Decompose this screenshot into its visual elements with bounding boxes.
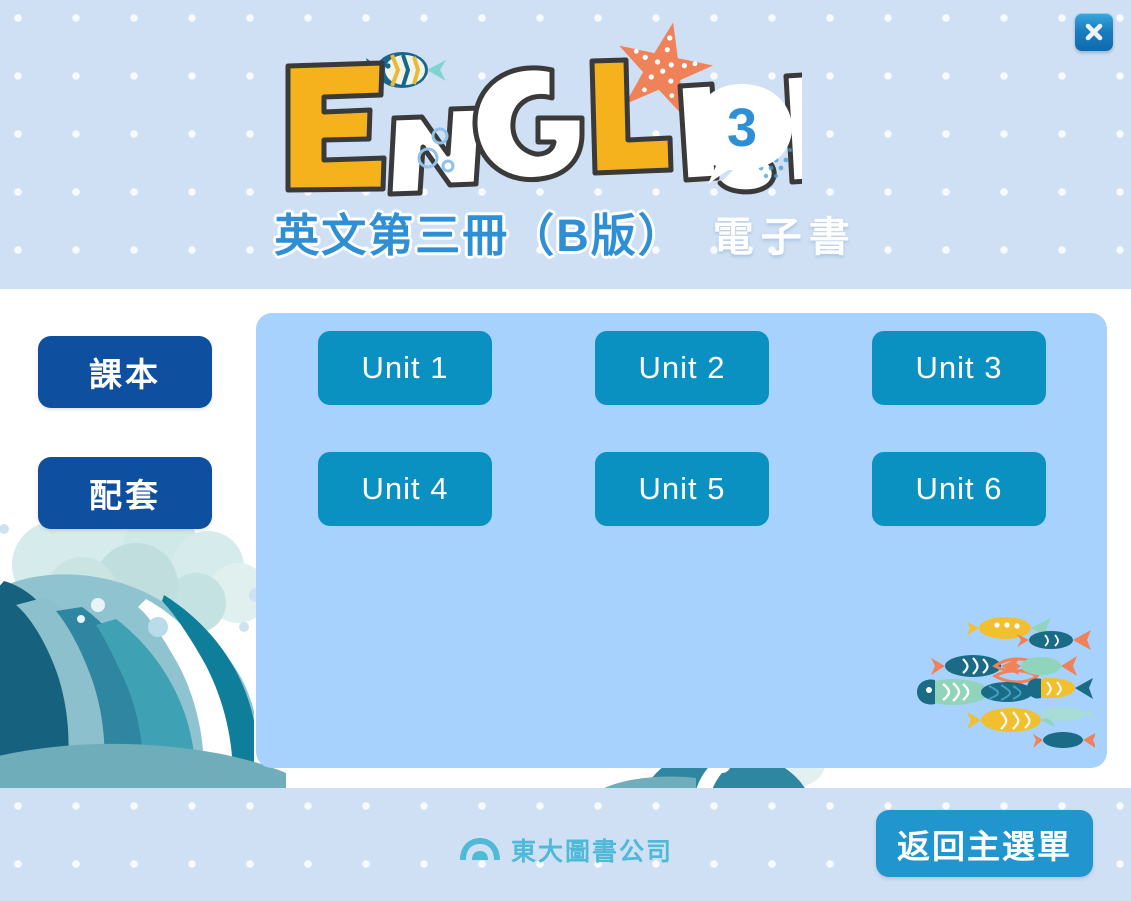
volume-number: 3 [727,98,757,158]
footer-bar: 東大圖書公司 返回主選單 [0,788,1131,901]
fish-yellow-right [1027,678,1093,699]
return-to-main-menu-button[interactable]: 返回主選單 [876,810,1093,877]
logo-letter-e [288,63,384,190]
sidebar-item-supplementary[interactable]: 配套 [38,457,212,529]
subtitle-ebook-label: 電子書 [713,214,857,260]
content-stage: 課本 配套 Unit 1 Unit 2 Unit 3 Unit 4 Unit 5… [0,289,1131,788]
fish-green-faint [1041,707,1095,721]
unit-grid: Unit 1 Unit 2 Unit 3 Unit 4 Unit 5 Unit … [318,331,1046,526]
close-button[interactable] [1075,13,1113,51]
ebook-launcher-window: 3 英文第三冊（B版）電子書 [0,0,1131,901]
fish-school-decoration [905,610,1095,750]
unit-button-2[interactable]: Unit 2 [595,331,769,405]
logo-letter-g [475,68,582,180]
title-logo-group: 3 英文第三冊（B版）電子書 [0,0,1131,289]
fish-orange-outline [995,659,1037,682]
unit-panel: Unit 1 Unit 2 Unit 3 Unit 4 Unit 5 Unit … [256,313,1107,768]
fish-green [1011,656,1077,676]
header-banner: 3 英文第三冊（B版）電子書 [0,0,1131,289]
unit-button-3[interactable]: Unit 3 [872,331,1046,405]
close-icon [1084,22,1104,42]
publisher-name: 東大圖書公司 [511,832,673,868]
fish-navy-striped [931,655,1019,677]
fish-yellow-top [967,617,1051,639]
fish-navy-plain [981,682,1033,702]
unit-button-6[interactable]: Unit 6 [872,452,1046,526]
sidebar-item-textbook[interactable]: 課本 [38,336,212,408]
bridge-icon [458,836,502,864]
fish-navy-bottom [1033,732,1095,749]
volume-badge-bubble: 3 [690,82,800,187]
fish-big [917,679,1009,705]
fish-navy-small-top [1017,630,1091,650]
sidebar: 課本 配套 [38,336,212,578]
unit-button-5[interactable]: Unit 5 [595,452,769,526]
unit-button-4[interactable]: Unit 4 [318,452,492,526]
unit-button-1[interactable]: Unit 1 [318,331,492,405]
subtitle-main: 英文第三冊（B版） [274,210,685,261]
subtitle-row: 英文第三冊（B版）電子書 [0,199,1131,264]
fish-yellow-bottom [967,708,1055,732]
